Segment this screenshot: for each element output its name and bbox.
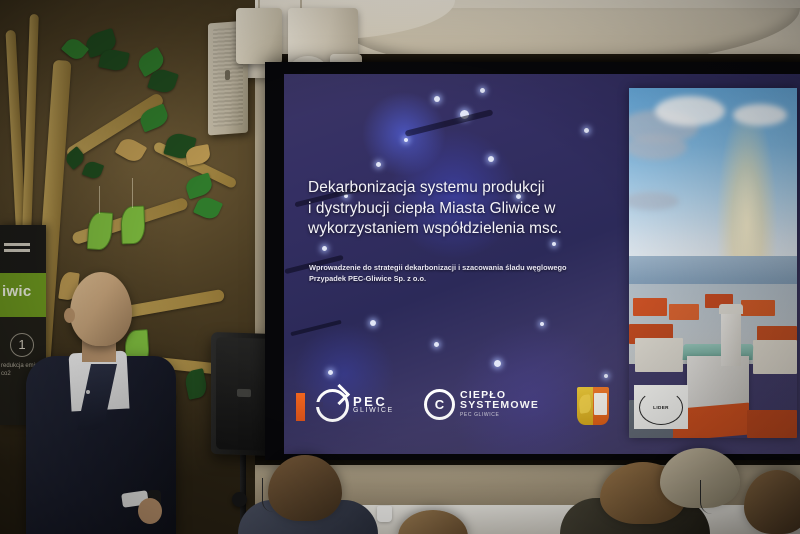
orange-accent-bar xyxy=(296,393,305,421)
slide-sparkle xyxy=(552,242,556,246)
slide-subtitle-line: Wprowadzenie do strategii dekarbonizacji… xyxy=(309,262,619,273)
slide-sparkle xyxy=(480,88,485,93)
slide-sparkle xyxy=(434,96,440,102)
slide-subtitle: Wprowadzenie do strategii dekarbonizacji… xyxy=(309,262,619,284)
slide-title-line: wykorzystaniem współdzielenia msc. xyxy=(308,219,608,240)
slide-subtitle-line: Przypadek PEC-Gliwice Sp. z o.o. xyxy=(309,273,619,284)
headset-wire xyxy=(262,478,273,512)
slide-sparkle xyxy=(376,162,381,167)
speaker-brand-badge xyxy=(237,389,251,397)
slide-sparkle xyxy=(322,246,327,251)
cieplo-c-icon: C xyxy=(424,389,455,420)
coffee-cup xyxy=(377,506,392,522)
banner-logo-mark xyxy=(4,243,30,255)
pec-gliwice-logo: PEC GLIWICE xyxy=(316,389,394,422)
slide-sparkle xyxy=(540,322,544,326)
presenter-hand xyxy=(138,498,162,524)
slide-logo-bar: PEC GLIWICE C CIEPŁO SYSTEMOWE PEC GLIWI… xyxy=(284,379,800,441)
pec-logo-text: PEC GLIWICE xyxy=(353,397,394,415)
slide-title-line: Dekarbonizacja systemu produkcji xyxy=(308,178,608,199)
banner-header xyxy=(0,225,46,273)
presenter-ear xyxy=(64,308,75,323)
speaker-stand-knob xyxy=(232,492,247,507)
cieplo-systemowe-logo: C CIEPŁO SYSTEMOWE PEC GLIWICE xyxy=(424,389,539,420)
laurel-wreath-icon: LIDER xyxy=(639,390,683,425)
laurel-award-badge: LIDER xyxy=(634,385,688,429)
leaf-hanger xyxy=(132,178,133,208)
slide-sparkle xyxy=(584,128,589,133)
slide-sparkle xyxy=(488,156,494,162)
pec-logo-line1: PEC xyxy=(353,397,394,406)
cieplo-logo-line3: PEC GLIWICE xyxy=(460,410,539,420)
presenter-lapel-pin xyxy=(86,390,90,394)
slide-sparkle xyxy=(404,138,408,142)
presenter xyxy=(26,268,191,534)
gliwice-coat-of-arms xyxy=(577,387,609,425)
laurel-badge-label: LIDER xyxy=(653,405,669,410)
pec-arrow-icon xyxy=(316,389,349,422)
slide-title-line: i dystrybucji ciepła Miasta Gliwice w xyxy=(308,199,608,220)
slide-title: Dekarbonizacja systemu produkcji i dystr… xyxy=(308,178,608,240)
projection-screen: Dekarbonizacja systemu produkcji i dystr… xyxy=(284,74,800,454)
slide-sparkle xyxy=(604,374,608,378)
slide-sparkle xyxy=(370,320,376,326)
cieplo-logo-line2: SYSTEMOWE xyxy=(460,400,539,410)
leaf-hanger xyxy=(99,186,100,214)
pec-logo-line2: GLIWICE xyxy=(353,406,394,415)
slide-sparkle xyxy=(494,360,501,367)
slide-sparkle xyxy=(434,342,439,347)
conference-photo: iwic 1 redukcja emisji co2 xyxy=(0,0,800,534)
crest-tower-icon xyxy=(594,393,607,415)
cieplo-logo-line1: CIEPŁO xyxy=(460,390,539,400)
slide-sparkle xyxy=(328,370,333,375)
presenter-head xyxy=(70,272,132,346)
cieplo-logo-text: CIEPŁO SYSTEMOWE PEC GLIWICE xyxy=(460,390,539,420)
speaker-mount-dot xyxy=(225,70,230,80)
wall-speaker-housing xyxy=(236,8,282,64)
headset-wire xyxy=(700,480,715,514)
